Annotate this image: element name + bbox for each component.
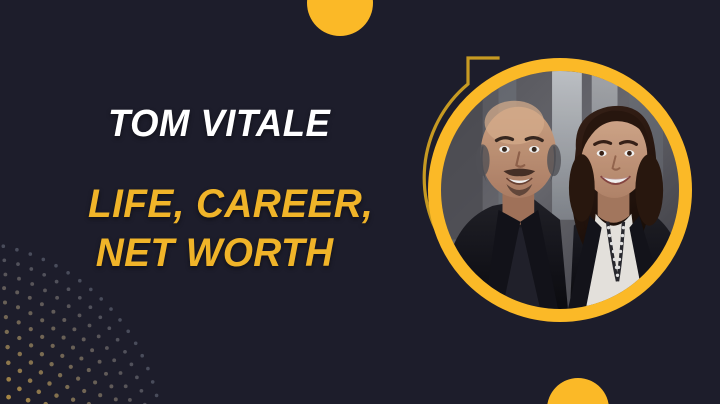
headline-text-block: TOM VITALE LIFE, CAREER, NET WORTH bbox=[88, 104, 408, 278]
yellow-circle-accent-top bbox=[307, 0, 373, 36]
thumbnail-canvas: TOM VITALE LIFE, CAREER, NET WORTH bbox=[0, 0, 720, 404]
yellow-circle-accent-bottom bbox=[547, 378, 609, 404]
subtitle-line-1: LIFE, CAREER, bbox=[88, 182, 373, 226]
page-subtitle: LIFE, CAREER, NET WORTH bbox=[88, 180, 398, 278]
subtitle-line-2: NET WORTH bbox=[96, 229, 399, 278]
portrait-ring bbox=[428, 58, 692, 322]
portrait-frame bbox=[428, 58, 692, 322]
page-title: TOM VITALE bbox=[108, 104, 396, 144]
